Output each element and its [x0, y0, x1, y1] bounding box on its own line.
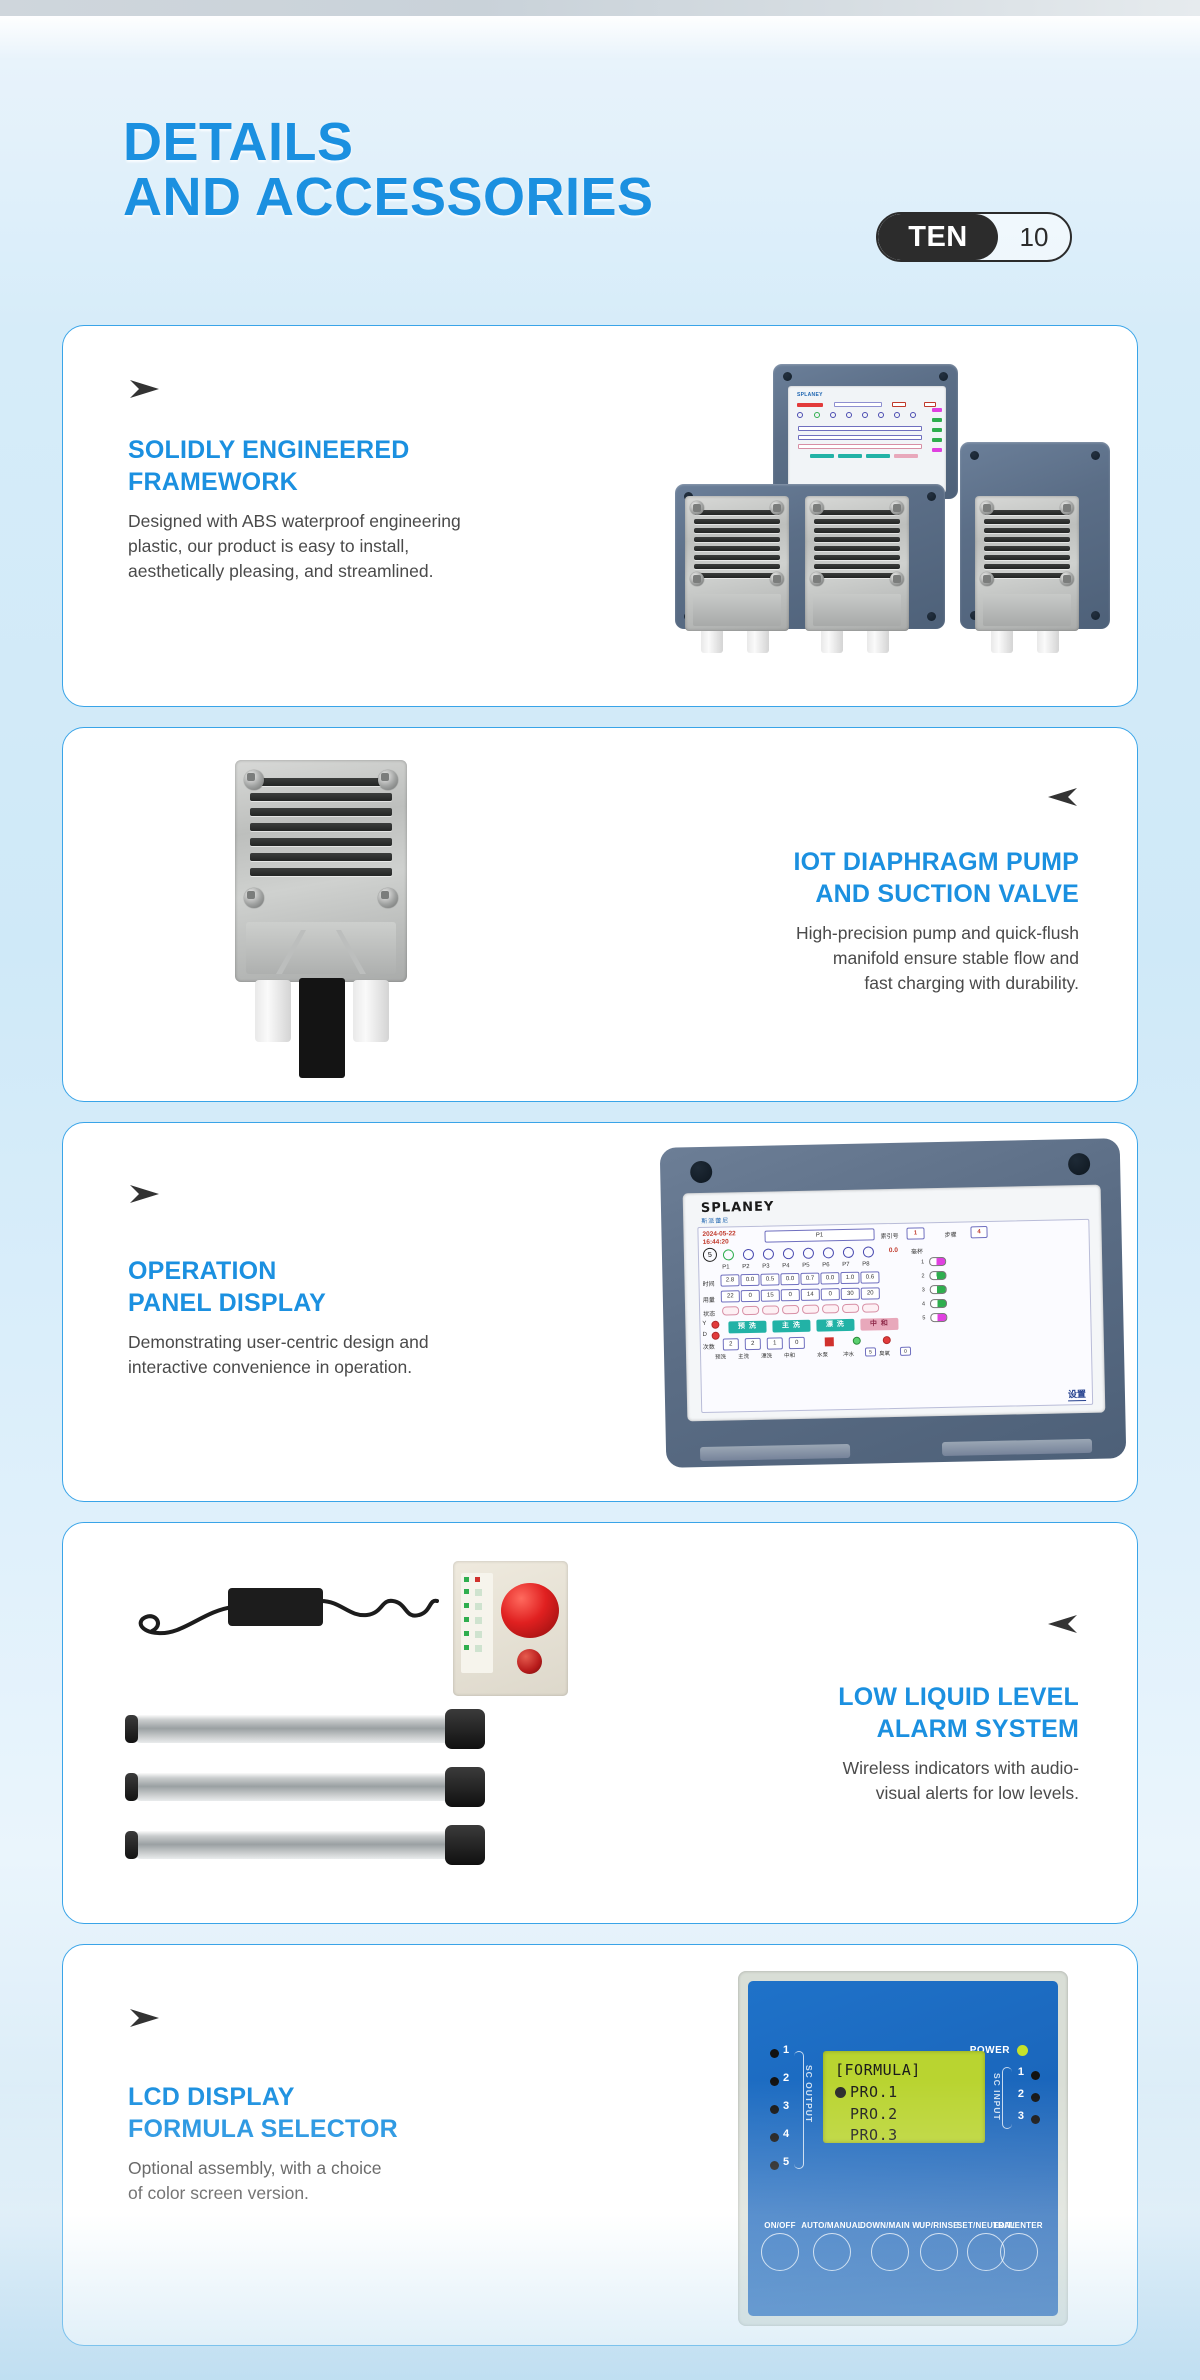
lcd-button-up-rinse[interactable] [920, 2233, 958, 2271]
panel-pump-header: P4 [782, 1263, 789, 1269]
lcd-button-down-main-w[interactable] [871, 2233, 909, 2271]
panel-pump-header: P7 [842, 1262, 849, 1268]
card1-title: SOLIDLY ENGINEERED FRAMEWORK [128, 434, 598, 498]
panel-count-cell[interactable]: 0 [789, 1337, 805, 1349]
card3-description: Demonstrating user-centric design and in… [128, 1330, 598, 1380]
panel-y-label: Y [702, 1321, 706, 1327]
panel-stage-button[interactable]: 预 洗 [728, 1321, 766, 1334]
card-solidly-engineered-framework: SOLIDLY ENGINEERED FRAMEWORK Designed wi… [62, 325, 1138, 707]
panel-footer-label: 中和 [784, 1351, 795, 1359]
panel-pump-header: P3 [762, 1264, 769, 1270]
panel-count-label: 次数 [703, 1342, 715, 1351]
panel-footer-label: 主洗 [738, 1352, 749, 1360]
panel-pump-header: P2 [742, 1264, 749, 1270]
card1-text-column: SOLIDLY ENGINEERED FRAMEWORK Designed wi… [128, 378, 598, 584]
card-lcd-display-formula-selector: LCD DISPLAY FORMULA SELECTOR Optional as… [62, 1944, 1138, 2346]
panel-time-label: 时间 [702, 1279, 714, 1288]
panel-pump-header: P5 [802, 1263, 809, 1269]
panel-pump-header: P6 [822, 1262, 829, 1268]
panel-channel-number: 3 [922, 1287, 925, 1293]
card1-description: Designed with ABS waterproof engineering… [128, 509, 598, 584]
power-adapter [228, 1588, 323, 1626]
panel-footer-label: 冲水 [843, 1350, 854, 1358]
panel-step-label: 步骤 [944, 1230, 956, 1239]
level-sensor-tube [135, 1715, 455, 1743]
card2-text-column: IOT DIAPHRAGM PUMP AND SUCTION VALVE Hig… [609, 786, 1079, 996]
panel-footer-label: 水泵 [817, 1350, 828, 1358]
ten-badge: TEN 10 [876, 212, 1072, 262]
panel-footer-label: 预洗 [715, 1353, 726, 1361]
panel-dose-cell[interactable]: 22 [721, 1290, 740, 1302]
panel-pump-indicator [825, 1337, 834, 1346]
panel-footer-label: 臭氧 [879, 1349, 890, 1357]
page-title-line1: DETAILS [123, 112, 354, 172]
card-operation-panel-display: OPERATION PANEL DISPLAY Demonstrating us… [62, 1122, 1138, 1502]
panel-dose-cell[interactable]: 20 [861, 1287, 880, 1299]
panel-time-cell[interactable]: 0.0 [820, 1272, 839, 1284]
diaphragm-pump-photo [193, 750, 493, 1080]
operation-panel-photo: SPLANEY 斯派蕾尼 2024-05-22 16:44:20 P1 索引号 … [653, 1131, 1138, 1502]
lcd-output-number: 1 [783, 2044, 789, 2056]
panel-screen-frame: 2024-05-22 16:44:20 P1 索引号 1 步骤 4 5 [697, 1219, 1093, 1413]
panel-count-cell[interactable]: 1 [767, 1337, 783, 1349]
panel-dose-cell[interactable]: 30 [841, 1288, 860, 1300]
panel-stage-button[interactable]: 主 洗 [772, 1320, 810, 1333]
panel-pump-header: P8 [862, 1261, 869, 1267]
card-low-liquid-level-alarm: LOW LIQUID LEVEL ALARM SYSTEM Wireless i… [62, 1522, 1138, 1924]
panel-state-label: 状态 [703, 1309, 715, 1318]
lcd-output-number: 2 [783, 2072, 789, 2084]
card3-text-column: OPERATION PANEL DISPLAY Demonstrating us… [128, 1183, 598, 1380]
panel-d-label: D [703, 1332, 707, 1338]
alarm-control-box [453, 1561, 568, 1696]
lcd-screen-item[interactable]: PRO.2 [835, 2104, 985, 2126]
lcd-output-dot [770, 2049, 779, 2058]
lcd-output-dot [770, 2077, 779, 2086]
panel-stage-button[interactable]: 漂 洗 [816, 1319, 854, 1332]
lcd-screen: [FORMULA] PRO.1 PRO.2 PRO.3 [823, 2051, 985, 2143]
arrow-left-icon [609, 786, 1079, 808]
lcd-input-dot [1031, 2115, 1040, 2124]
arrow-right-icon [128, 2007, 598, 2029]
lcd-button-auto-manual[interactable] [813, 2233, 851, 2271]
panel-time-cell[interactable]: 0.7 [800, 1273, 819, 1285]
panel-index-label: 索引号 [880, 1231, 898, 1240]
panel-step-value: 4 [970, 1226, 987, 1238]
lcd-screen-item[interactable]: PRO.3 [835, 2125, 985, 2147]
lcd-output-dot [770, 2133, 779, 2142]
lcd-selected-bullet [835, 2087, 846, 2098]
lcd-power-led [1017, 2045, 1028, 2056]
panel-cycle-number: 5 [703, 1248, 717, 1262]
page-header: DETAILS AND ACCESSORIES TEN 10 [0, 0, 1200, 315]
panel-channel-number: 5 [922, 1315, 925, 1321]
panel-footer-value: 0 [900, 1347, 911, 1356]
panel-footer-label: 漂洗 [761, 1352, 772, 1360]
panel-dose-cell[interactable]: 0 [821, 1288, 840, 1300]
panel-channel-toggle[interactable] [930, 1313, 947, 1322]
panel-time-cell[interactable]: 0.5 [760, 1273, 779, 1285]
panel-settings-button[interactable]: 设置 [1068, 1387, 1086, 1401]
panel-program-field[interactable]: P1 [764, 1228, 874, 1242]
lcd-formula-selector-photo: POWER 1 2 3 4 5 SC OUTPUT [678, 1961, 1138, 2336]
lcd-output-dot [770, 2161, 779, 2170]
panel-index-value: 1 [906, 1227, 924, 1239]
panel-channel-toggle[interactable] [929, 1257, 946, 1266]
panel-channel-number: 1 [921, 1259, 924, 1265]
panel-channel-number: 2 [921, 1273, 924, 1279]
panel-dose-cell[interactable]: 15 [761, 1289, 780, 1301]
page-title: DETAILS AND ACCESSORIES [123, 115, 654, 225]
level-sensor-tube [135, 1773, 455, 1801]
panel-cup-label: 毫杯 [911, 1246, 923, 1255]
level-alarm-kit-photo [73, 1533, 713, 1918]
panel-footer-value: 5 [865, 1347, 876, 1356]
level-sensor-tube [135, 1831, 455, 1859]
page-title-line2: AND ACCESSORIES [123, 170, 654, 225]
panel-count-cell[interactable]: 2 [745, 1338, 761, 1350]
panel-dose-cell[interactable]: 0 [781, 1289, 800, 1301]
panel-time-cell[interactable]: 2.8 [720, 1274, 739, 1286]
panel-ozone-indicator [883, 1336, 891, 1344]
panel-rinse-indicator [853, 1337, 861, 1345]
alarm-buzzer [517, 1649, 542, 1674]
panel-time: 16:44:20 [703, 1239, 729, 1247]
panel-time-cell[interactable]: 0.6 [860, 1271, 879, 1283]
lcd-screen-title: [FORMULA] [835, 2060, 985, 2082]
lcd-button-label: EDIT/ENTER [982, 2221, 1054, 2230]
panel-time-cell[interactable]: 0.0 [780, 1273, 799, 1285]
lcd-input-number: 2 [1018, 2088, 1024, 2100]
ten-badge-number: 10 [998, 222, 1070, 253]
lcd-output-number: 4 [783, 2128, 789, 2140]
dosing-pump-housings-photo: SPLANEY [663, 344, 1123, 704]
panel-time-cell[interactable]: 1.0 [840, 1272, 859, 1284]
panel-dose-cell[interactable]: 0 [741, 1290, 760, 1302]
panel-channel-number: 4 [922, 1301, 925, 1307]
lcd-output-dot [770, 2105, 779, 2114]
panel-count-cell[interactable]: 2 [723, 1338, 739, 1350]
details-and-accessories-page: DETAILS AND ACCESSORIES TEN 10 SOLIDLY E… [0, 0, 1200, 2380]
arrow-right-icon [128, 378, 598, 400]
panel-channel-toggle[interactable] [929, 1271, 946, 1280]
lcd-button-edit-enter[interactable] [1000, 2233, 1038, 2271]
lcd-input-number: 3 [1018, 2110, 1024, 2122]
panel-channel-toggle[interactable] [930, 1299, 947, 1308]
card2-description: High-precision pump and quick-flush mani… [609, 921, 1079, 996]
panel-d-led [712, 1332, 720, 1340]
lcd-input-dot [1031, 2093, 1040, 2102]
lcd-screen-item-selected[interactable]: PRO.1 [835, 2082, 985, 2104]
panel-flow-value: 0.0 [889, 1247, 898, 1255]
panel-channel-toggle[interactable] [930, 1285, 947, 1294]
card5-title: LCD DISPLAY FORMULA SELECTOR [128, 2081, 598, 2145]
card5-text-column: LCD DISPLAY FORMULA SELECTOR Optional as… [128, 2007, 598, 2206]
panel-dose-cell[interactable]: 14 [801, 1289, 820, 1301]
panel-time-cell[interactable]: 0.0 [740, 1274, 759, 1286]
lcd-input-number: 1 [1018, 2066, 1024, 2078]
arrow-right-icon [128, 1183, 598, 1205]
card3-title: OPERATION PANEL DISPLAY [128, 1255, 598, 1319]
card5-description: Optional assembly, with a choice of colo… [128, 2156, 598, 2206]
panel-stage-button[interactable]: 中 和 [860, 1318, 898, 1331]
lcd-input-dot [1031, 2071, 1040, 2080]
lcd-output-label: SC OUTPUT [804, 2065, 814, 2123]
panel-y-led [711, 1321, 719, 1329]
panel-brand: SPLANEY 斯派蕾尼 [701, 1199, 775, 1225]
panel-date: 2024-05-22 [702, 1230, 735, 1238]
lcd-input-label: SC INPUT [992, 2073, 1002, 2121]
panel-pump-header: P1 [722, 1264, 729, 1270]
alarm-beacon [501, 1583, 559, 1638]
ten-badge-label: TEN [878, 214, 998, 260]
card-iot-diaphragm-pump: IOT DIAPHRAGM PUMP AND SUCTION VALVE Hig… [62, 727, 1138, 1102]
lcd-output-number: 3 [783, 2100, 789, 2112]
lcd-button-on-off[interactable] [761, 2233, 799, 2271]
card2-title: IOT DIAPHRAGM PUMP AND SUCTION VALVE [609, 846, 1079, 910]
lcd-output-number: 5 [783, 2156, 789, 2168]
panel-dose-label: 用量 [703, 1295, 715, 1304]
